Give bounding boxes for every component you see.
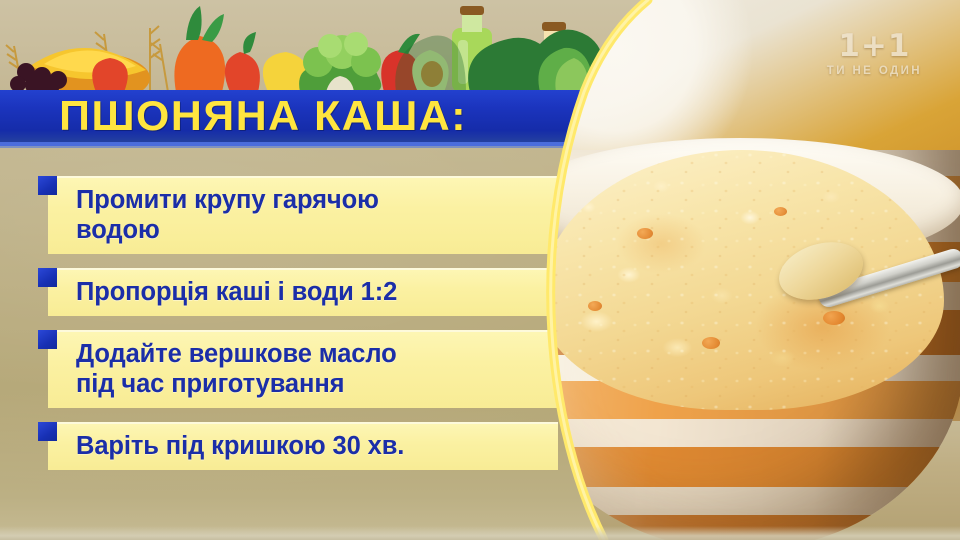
broccoli-icon	[299, 32, 381, 92]
carrot-piece	[702, 337, 720, 349]
recipe-photo	[540, 0, 960, 540]
bottom-edge-highlight	[0, 526, 960, 540]
bullet-square-icon	[38, 268, 57, 287]
tomato-icon	[92, 58, 128, 92]
step-panel: Варіть під кришкою 30 хв.	[48, 422, 558, 470]
carrot-icon	[174, 6, 225, 92]
step-text: Промити крупу гарячою водою	[76, 185, 544, 245]
list-item: Додайте вершкове масло під час приготува…	[38, 330, 558, 408]
tv-recipe-slide: ПШОНЯНА КАША: Промити крупу гарячою водо…	[0, 0, 960, 540]
step-panel: Пропорція каші і води 1:2	[48, 268, 558, 316]
carrot-piece	[637, 228, 653, 239]
bullet-square-icon	[38, 176, 57, 195]
list-item: Промити крупу гарячою водою	[38, 176, 558, 254]
carrot-piece	[823, 311, 845, 325]
title-banner: ПШОНЯНА КАША:	[0, 90, 600, 146]
step-text: Пропорція каші і води 1:2	[76, 277, 544, 307]
step-text: Додайте вершкове масло під час приготува…	[76, 339, 544, 399]
page-title: ПШОНЯНА КАША:	[0, 92, 467, 140]
logo-text: 1+1	[827, 28, 922, 64]
green-pepper-icon	[225, 32, 260, 92]
bullet-square-icon	[38, 330, 57, 349]
list-item: Пропорція каші і води 1:2	[38, 268, 558, 316]
bullet-square-icon	[38, 422, 57, 441]
logo-tagline: ТИ НЕ ОДИН	[827, 65, 922, 77]
step-text: Варіть під кришкою 30 хв.	[76, 431, 544, 461]
step-panel: Промити крупу гарячою водою	[48, 176, 558, 254]
channel-logo: 1+1 ТИ НЕ ОДИН	[827, 28, 922, 77]
photo-content	[540, 0, 960, 540]
recipe-steps-list: Промити крупу гарячою водою Пропорція ка…	[38, 176, 558, 484]
step-panel: Додайте вершкове масло під час приготува…	[48, 330, 558, 408]
list-item: Варіть під кришкою 30 хв.	[38, 422, 558, 470]
